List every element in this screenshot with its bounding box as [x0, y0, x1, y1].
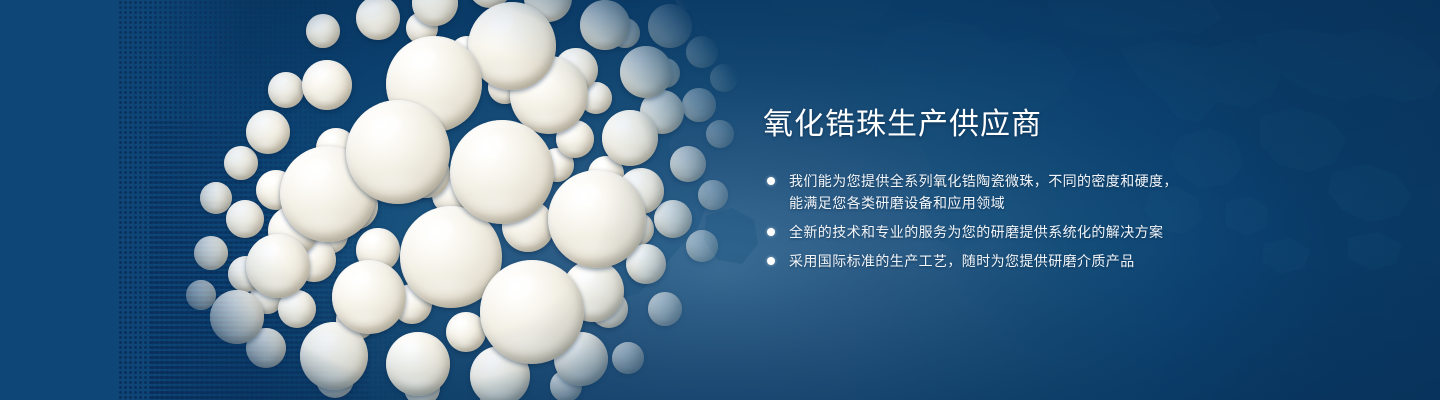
ceramic-bead — [302, 60, 352, 110]
ceramic-bead — [648, 292, 682, 326]
bead-cluster — [150, 0, 770, 400]
ceramic-bead — [332, 260, 406, 334]
ceramic-bead — [210, 290, 264, 344]
zirconia-beads-photo — [150, 0, 770, 400]
ceramic-bead — [386, 332, 450, 396]
bullet-dot-icon — [767, 177, 775, 185]
ceramic-bead — [480, 260, 584, 364]
feature-list: 我们能为您提供全系列氧化锆陶瓷微珠，不同的密度和硬度，能满足您各类研磨设备和应用… — [763, 170, 1323, 272]
bullet-dot-icon — [767, 228, 775, 236]
ceramic-bead — [548, 170, 646, 268]
ceramic-bead — [706, 120, 734, 148]
banner-content: 氧化锆珠生产供应商 我们能为您提供全系列氧化锆陶瓷微珠，不同的密度和硬度，能满足… — [763, 108, 1323, 272]
bullet-dot-icon — [767, 257, 775, 265]
ceramic-bead — [268, 72, 304, 108]
ceramic-bead — [686, 36, 718, 68]
hero-banner: 氧化锆珠生产供应商 我们能为您提供全系列氧化锆陶瓷微珠，不同的密度和硬度，能满足… — [0, 0, 1440, 400]
ceramic-bead — [670, 146, 706, 182]
ceramic-bead — [226, 200, 264, 238]
ceramic-bead — [620, 46, 672, 98]
ceramic-bead — [246, 110, 290, 154]
ceramic-bead — [224, 146, 258, 180]
feature-list-item: 全新的技术和专业的服务为您的研磨提供系统化的解决方案 — [763, 221, 1323, 243]
feature-list-item: 我们能为您提供全系列氧化锆陶瓷微珠，不同的密度和硬度，能满足您各类研磨设备和应用… — [763, 170, 1323, 214]
ceramic-bead — [246, 234, 310, 298]
page-title: 氧化锆珠生产供应商 — [763, 108, 1323, 142]
ceramic-bead — [682, 88, 716, 122]
feature-list-item-text: 我们能为您提供全系列氧化锆陶瓷微珠，不同的密度和硬度， — [789, 170, 1323, 192]
ceramic-bead — [450, 120, 554, 224]
ceramic-bead — [602, 110, 658, 166]
ceramic-bead — [686, 230, 718, 262]
feature-list-item-text: 全新的技术和专业的服务为您的研磨提供系统化的解决方案 — [789, 221, 1323, 243]
ceramic-bead — [698, 180, 728, 210]
feature-list-item: 采用国际标准的生产工艺，随时为您提供研磨介质产品 — [763, 250, 1323, 272]
ceramic-bead — [648, 4, 692, 48]
ceramic-bead — [194, 236, 228, 270]
ceramic-bead — [710, 64, 738, 92]
ceramic-bead — [580, 0, 630, 50]
ceramic-bead — [612, 342, 644, 374]
ceramic-bead — [346, 100, 450, 204]
ceramic-bead — [356, 0, 400, 40]
feature-list-item-text: 采用国际标准的生产工艺，随时为您提供研磨介质产品 — [789, 250, 1323, 272]
ceramic-bead — [702, 6, 728, 32]
ceramic-bead — [654, 200, 692, 238]
ceramic-bead — [306, 14, 340, 48]
feature-list-item-text: 能满足您各类研磨设备和应用领域 — [789, 192, 1323, 214]
